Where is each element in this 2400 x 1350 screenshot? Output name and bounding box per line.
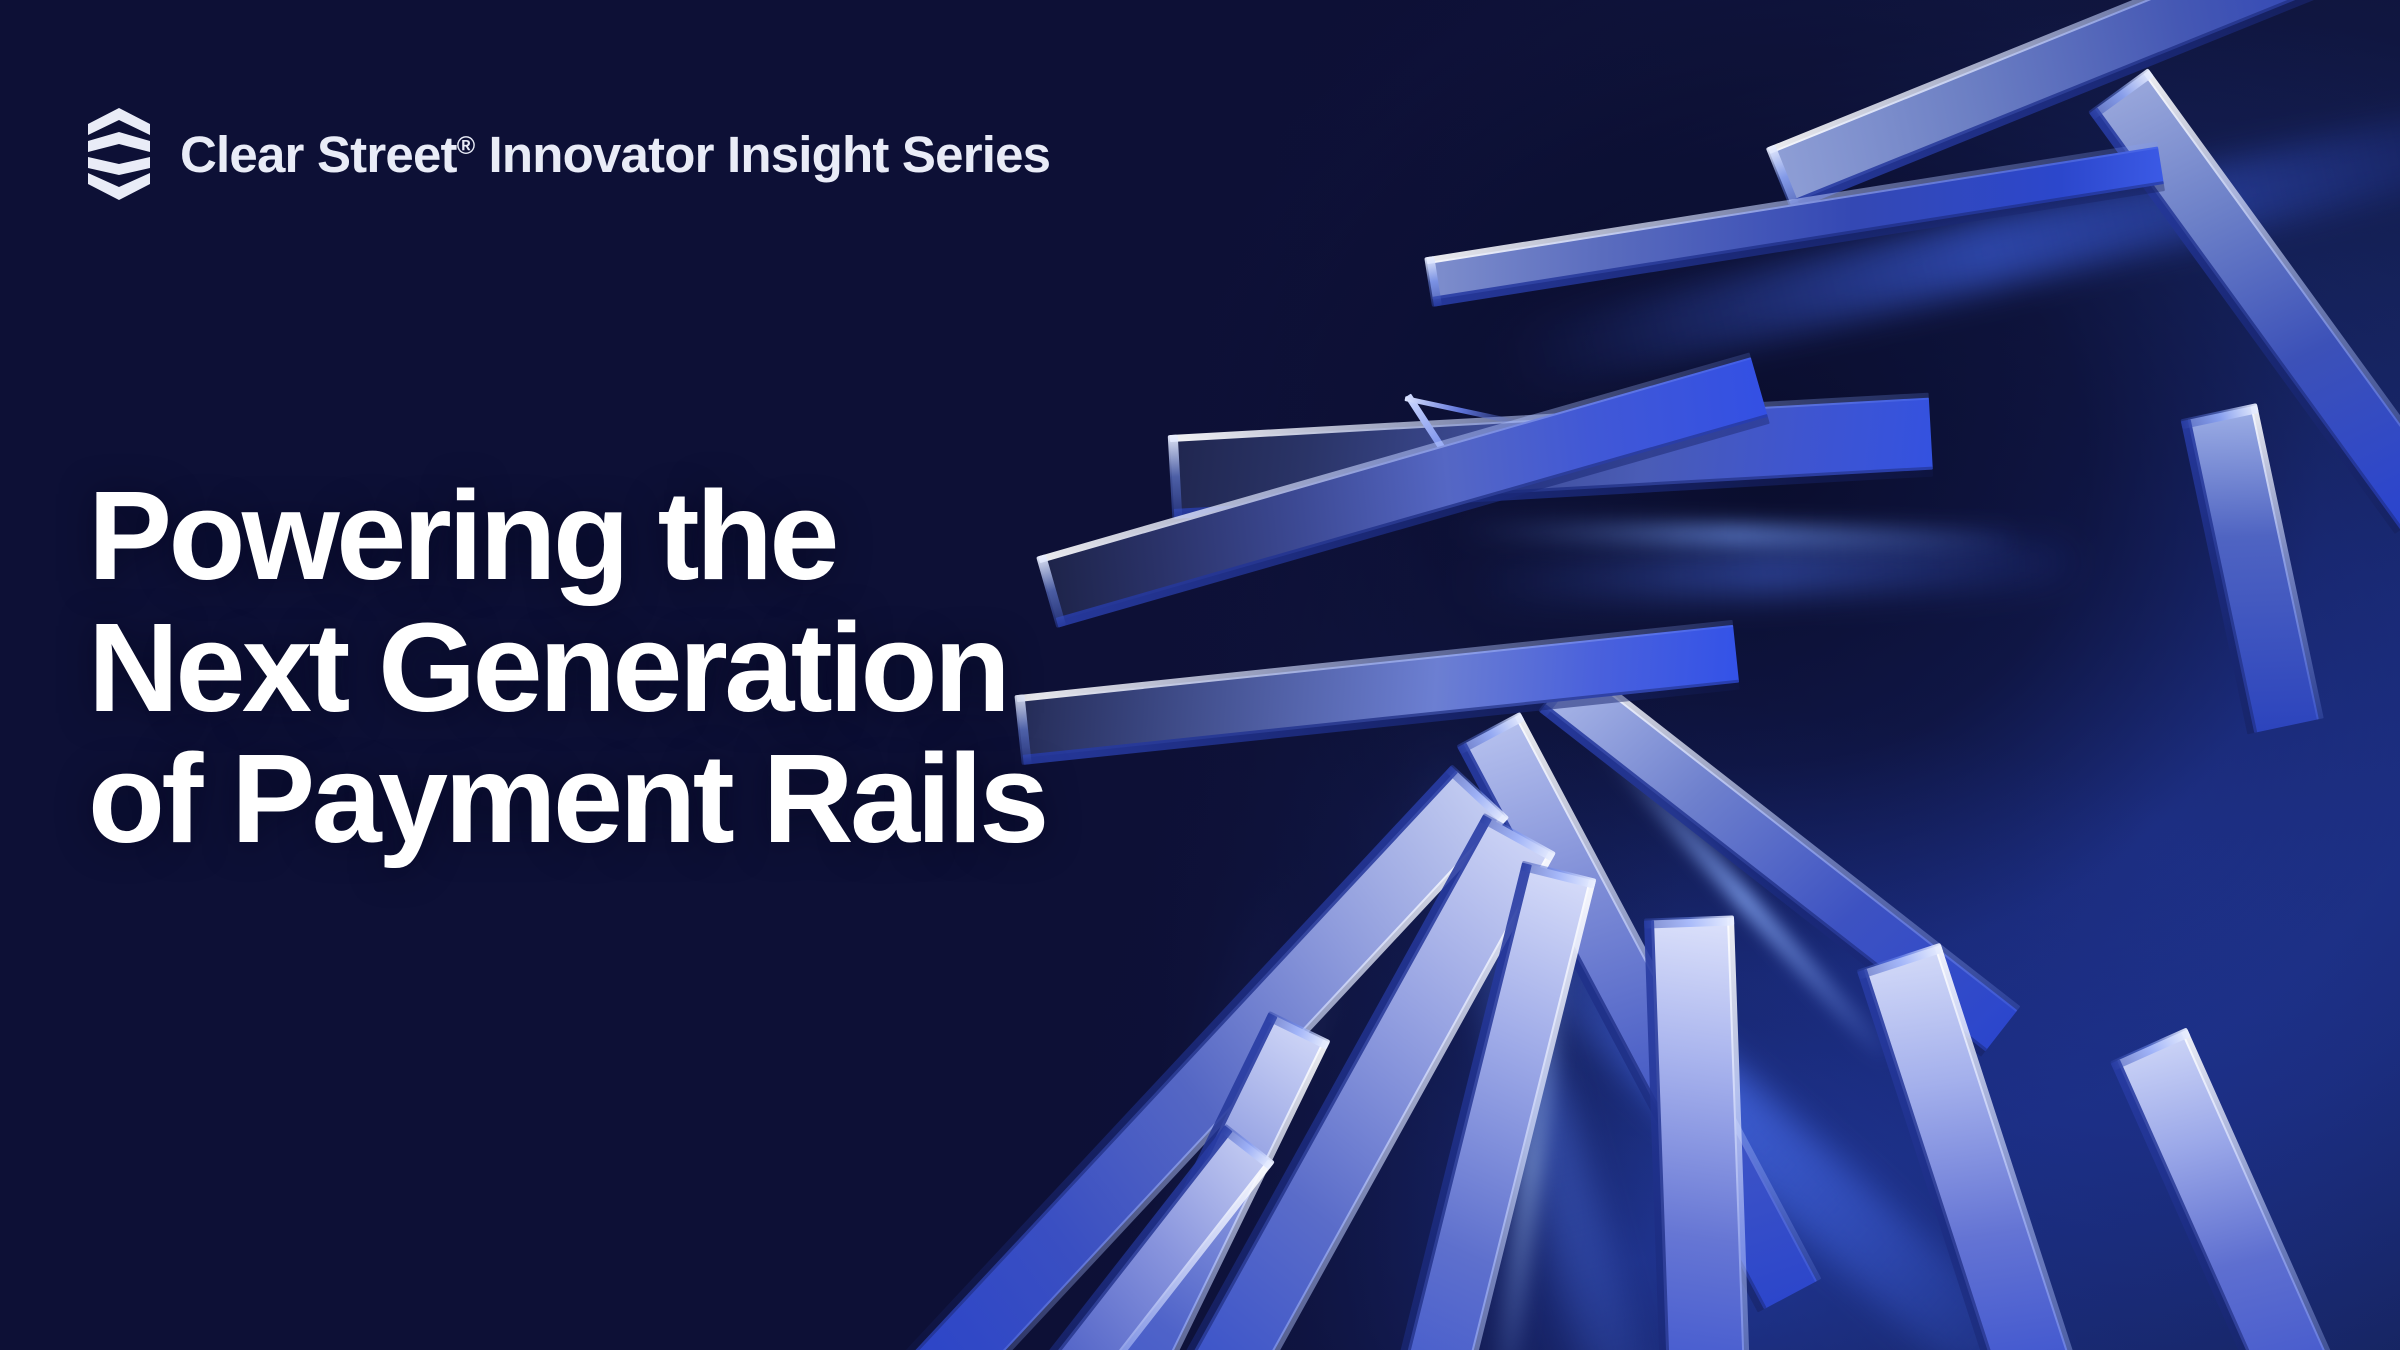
clear-street-hexagon-logo [88,108,150,200]
page-title: Powering the Next Generation of Payment … [88,470,1046,865]
headline-line-2: Next Generation [88,602,1046,734]
brand-name: Clear Street [180,126,457,183]
headline-line-3: of Payment Rails [88,733,1046,865]
registered-trademark-icon: ® [457,132,475,160]
series-name: Innovator Insight Series [489,126,1051,183]
headline-line-1: Powering the [88,470,1046,602]
beam [1651,918,1751,1350]
brand-header-text: Clear Street® Innovator Insight Series [180,129,1050,180]
brand-header: Clear Street® Innovator Insight Series [88,108,1050,200]
title-slide: Clear Street® Innovator Insight Series P… [0,0,2400,1350]
